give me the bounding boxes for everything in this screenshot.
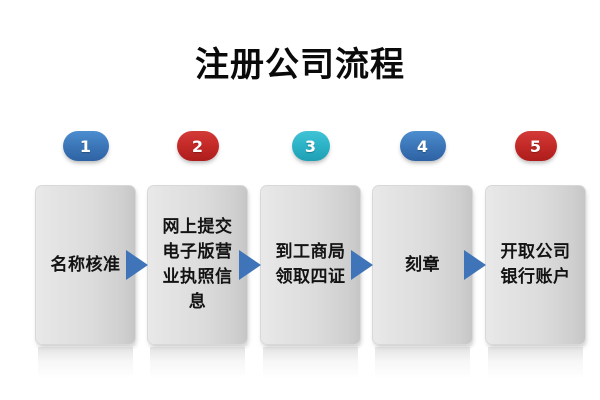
step-badge-3: 3 (292, 131, 330, 161)
step-box-4[interactable]: 刻章 (372, 185, 473, 345)
arrow-1-to-2-icon (126, 250, 148, 280)
step-label-1: 名称核准 (49, 253, 123, 278)
step-number-2: 2 (192, 137, 203, 156)
step-number-3: 3 (305, 137, 316, 156)
step-box-3[interactable]: 到工商局领取四证 (260, 185, 361, 345)
flowchart-canvas: 注册公司流程 1 名称核准 2 网上提交电子版营业执照信息 3 到工商局领取四证 (0, 0, 600, 400)
arrow-3-to-4-icon (351, 250, 373, 280)
step-badge-5: 5 (515, 131, 557, 161)
step-reflection-1 (38, 347, 133, 379)
flow-step-5[interactable]: 5 开取公司银行账户 (485, 128, 586, 378)
step-box-2[interactable]: 网上提交电子版营业执照信息 (147, 185, 248, 345)
step-number-5: 5 (530, 137, 541, 156)
flow-step-2[interactable]: 2 网上提交电子版营业执照信息 (147, 128, 248, 378)
step-badge-4: 4 (400, 131, 446, 161)
flow-step-3[interactable]: 3 到工商局领取四证 (260, 128, 361, 378)
flow-step-1[interactable]: 1 名称核准 (35, 128, 136, 378)
step-label-5: 开取公司银行账户 (499, 240, 573, 290)
step-reflection-5 (488, 347, 583, 379)
step-box-5[interactable]: 开取公司银行账户 (485, 185, 586, 345)
step-number-4: 4 (417, 137, 428, 156)
step-badge-1: 1 (63, 131, 109, 161)
arrow-4-to-5-icon (464, 250, 486, 280)
arrow-2-to-3-icon (239, 250, 261, 280)
step-label-3: 到工商局领取四证 (274, 240, 348, 290)
step-label-4: 刻章 (386, 253, 460, 278)
step-number-1: 1 (80, 137, 91, 156)
step-badge-2: 2 (177, 131, 219, 161)
flow-step-4[interactable]: 4 刻章 (372, 128, 473, 378)
step-label-2: 网上提交电子版营业执照信息 (161, 215, 235, 315)
step-box-1[interactable]: 名称核准 (35, 185, 136, 345)
step-reflection-2 (150, 347, 245, 379)
step-reflection-4 (375, 347, 470, 379)
step-reflection-3 (263, 347, 358, 379)
page-title: 注册公司流程 (0, 44, 600, 86)
